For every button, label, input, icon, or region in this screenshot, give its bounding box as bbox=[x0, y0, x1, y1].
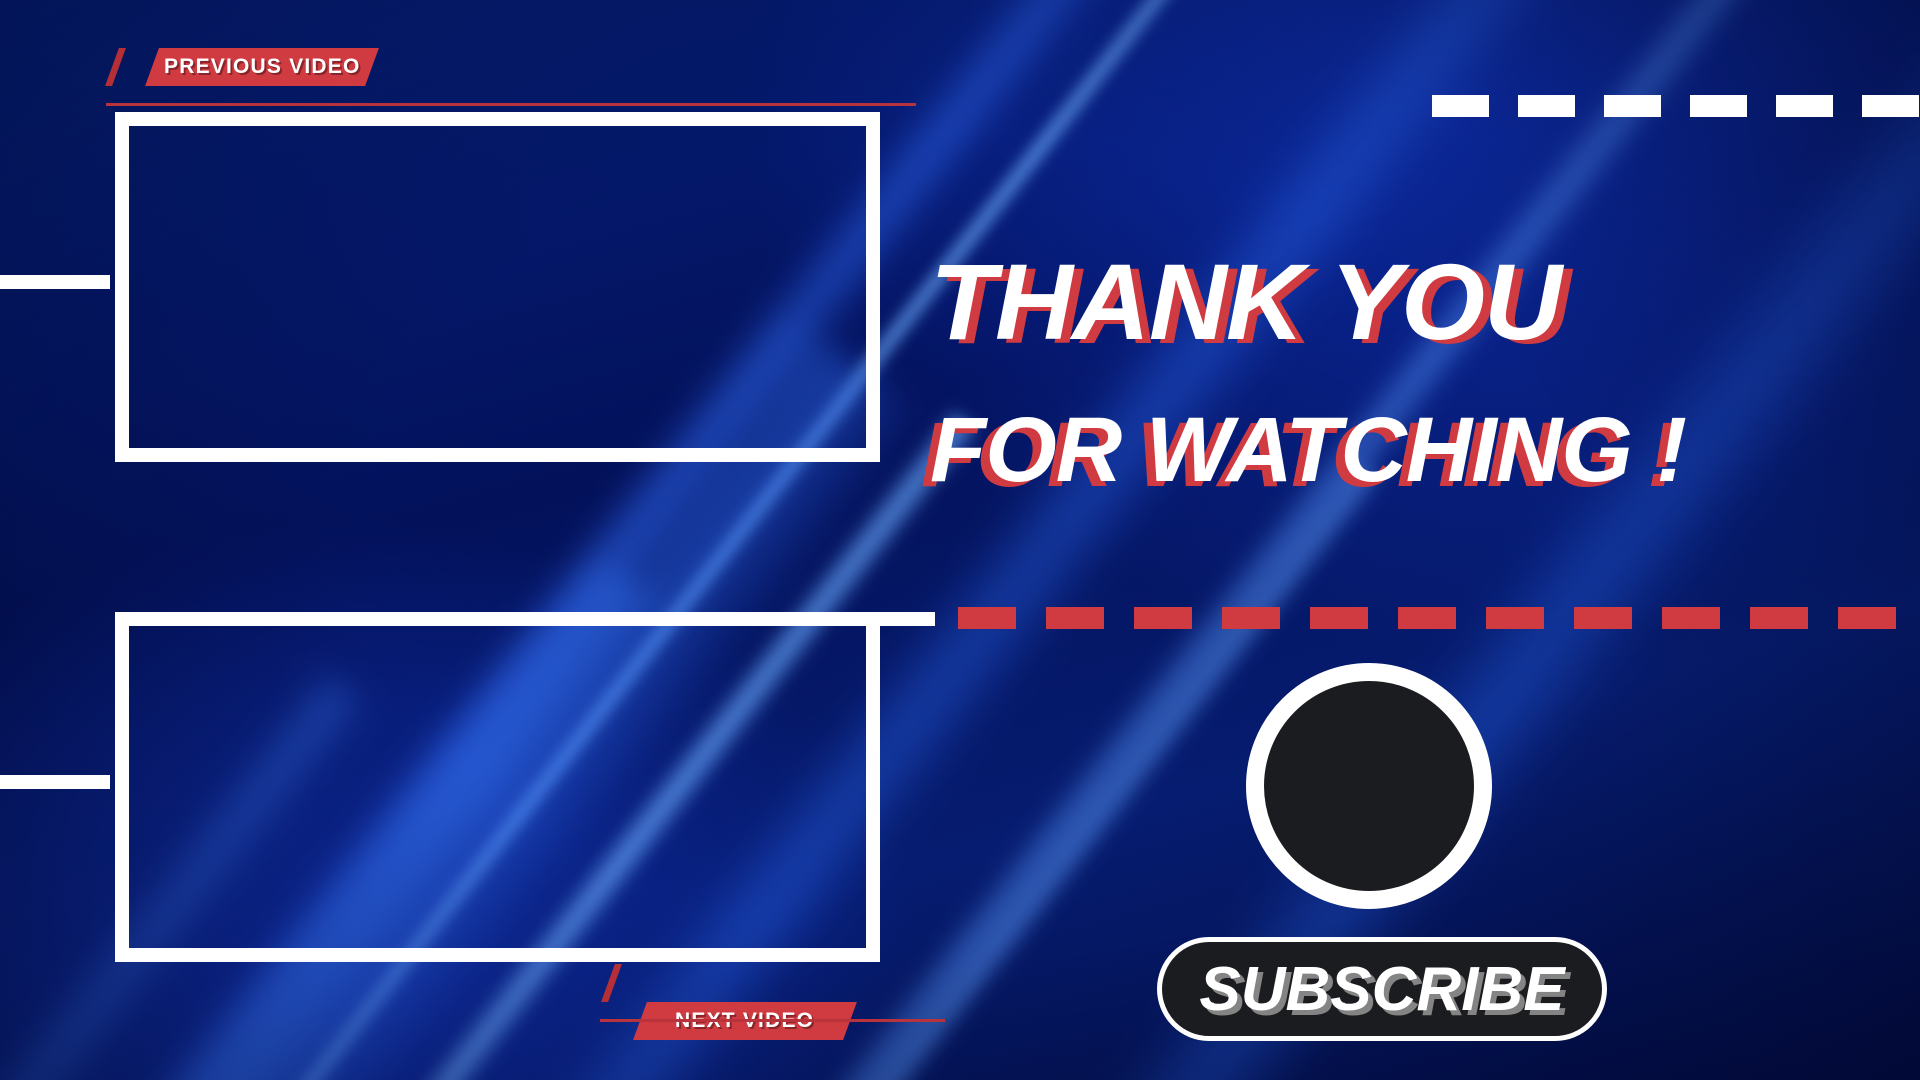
next-video-frame[interactable] bbox=[115, 612, 880, 962]
dash-segment bbox=[1432, 95, 1489, 117]
dash-segment bbox=[1518, 95, 1575, 117]
dash-segment bbox=[1604, 95, 1661, 117]
next-video-frame-extension bbox=[880, 612, 935, 626]
title-line-2: FOR WATCHING ! bbox=[930, 404, 1830, 496]
dash-segment bbox=[1838, 607, 1896, 629]
dash-segment bbox=[1222, 607, 1280, 629]
subscribe-button-label: SUBSCRIBE bbox=[1199, 954, 1564, 1025]
dash-segment bbox=[1046, 607, 1104, 629]
dash-segment bbox=[1574, 607, 1632, 629]
dash-segment bbox=[958, 607, 1016, 629]
previous-video-tag[interactable]: PREVIOUS VIDEO bbox=[145, 48, 379, 86]
channel-avatar-circle-icon[interactable] bbox=[1246, 663, 1492, 909]
dash-segment bbox=[1134, 607, 1192, 629]
thank-you-title-block: THANK YOU FOR WATCHING ! bbox=[930, 248, 1830, 496]
previous-video-tag-label: PREVIOUS VIDEO bbox=[164, 55, 361, 79]
dash-segment bbox=[1750, 607, 1808, 629]
previous-video-frame[interactable] bbox=[115, 112, 880, 462]
next-video-tag-underline bbox=[600, 1019, 945, 1022]
dash-segment bbox=[1310, 607, 1368, 629]
white-dashed-divider bbox=[1432, 95, 1920, 117]
dash-segment bbox=[1486, 607, 1544, 629]
previous-video-tag-underline bbox=[106, 103, 916, 106]
dash-segment bbox=[1776, 95, 1833, 117]
next-video-connector-line bbox=[0, 775, 110, 789]
end-screen-canvas: PREVIOUS VIDEO NEXT VIDEO THANK YOU FOR … bbox=[0, 0, 1920, 1080]
title-line-1: THANK YOU bbox=[930, 248, 1830, 356]
subscribe-button[interactable]: SUBSCRIBE bbox=[1157, 937, 1607, 1041]
previous-video-connector-line bbox=[0, 275, 110, 289]
dash-segment bbox=[1398, 607, 1456, 629]
dash-segment bbox=[1862, 95, 1919, 117]
dash-segment bbox=[1662, 607, 1720, 629]
red-dashed-divider bbox=[958, 607, 1920, 629]
dash-segment bbox=[1690, 95, 1747, 117]
